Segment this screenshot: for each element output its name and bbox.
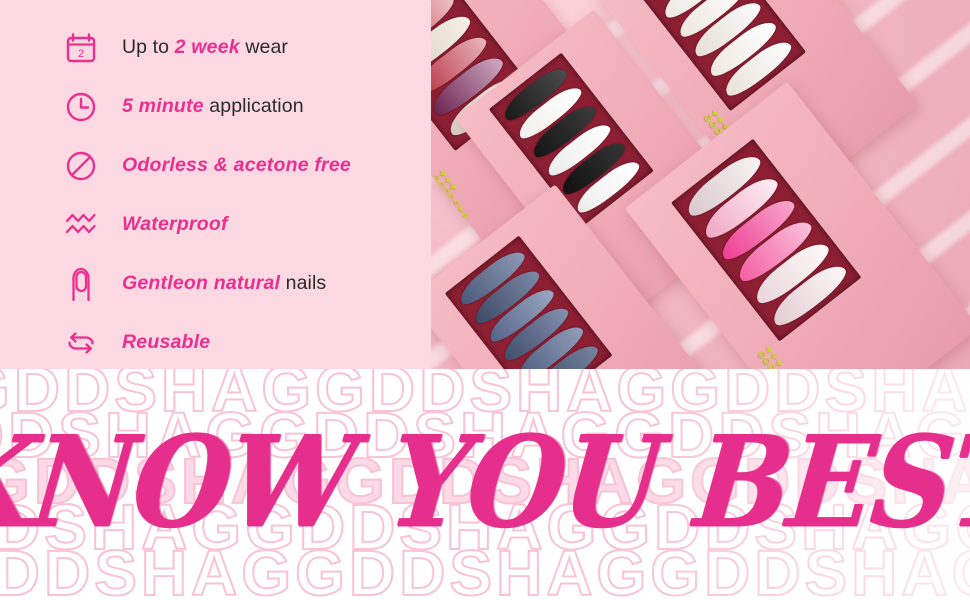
feature-text-part: wear (240, 36, 288, 58)
feature-text-part: 2 week (175, 36, 240, 58)
feature-text-part: application (204, 95, 304, 117)
headline-text: KNOW YOU BEST (0, 420, 970, 545)
feature-row: Reusable (0, 313, 431, 372)
water-waves-icon (58, 202, 104, 248)
svg-text:2: 2 (78, 48, 84, 60)
reuse-loop-icon (58, 320, 104, 366)
feature-text-part: 5 minute (122, 95, 204, 117)
feature-row: 5 minute application (0, 77, 431, 136)
feature-label: Reusable (122, 333, 210, 353)
feature-text-part: nails (280, 272, 326, 294)
feature-text-part: Up to (122, 36, 175, 58)
feature-text-part: Waterproof (122, 213, 228, 235)
feature-list: 2 Up to 2 week wear 5 minute application (0, 0, 431, 369)
feature-label: Gentleon natural nails (122, 274, 326, 294)
feature-label: 5 minute application (122, 97, 304, 117)
no-entry-icon (58, 143, 104, 189)
brand-logo: ✦✦✦ GGDDSHA (756, 346, 802, 369)
feature-row: Gentleon natural nails (0, 254, 431, 313)
feature-label: Up to 2 week wear (122, 38, 288, 58)
feature-label: Waterproof (122, 215, 228, 235)
feature-label: Odorless & acetone free (122, 156, 351, 176)
top-section: 2 Up to 2 week wear 5 minute application (0, 0, 970, 369)
calendar-2-icon: 2 (58, 25, 104, 71)
product-photo: ✦✦✦ GGDDSHA ✦✦✦ GGDDSHA (431, 0, 970, 369)
feature-row: Odorless & acetone free (0, 136, 431, 195)
feature-text-part: Reusable (122, 331, 210, 353)
feature-row: 2 Up to 2 week wear (0, 18, 431, 77)
bottom-section: GDDSHAGGDDSHAGGDDSHAGGDDSHAGGDDSHAGGDDSH… (0, 369, 970, 600)
promo-banner: 2 Up to 2 week wear 5 minute application (0, 0, 970, 600)
feature-text-part: Gentleon natural (122, 272, 280, 294)
feature-row: Waterproof (0, 195, 431, 254)
nail-window (445, 236, 613, 369)
headline-container: KNOW YOU BEST (0, 369, 970, 600)
feature-text-part: Odorless & acetone free (122, 154, 351, 176)
clock-icon (58, 84, 104, 130)
fingernail-icon (58, 261, 104, 307)
